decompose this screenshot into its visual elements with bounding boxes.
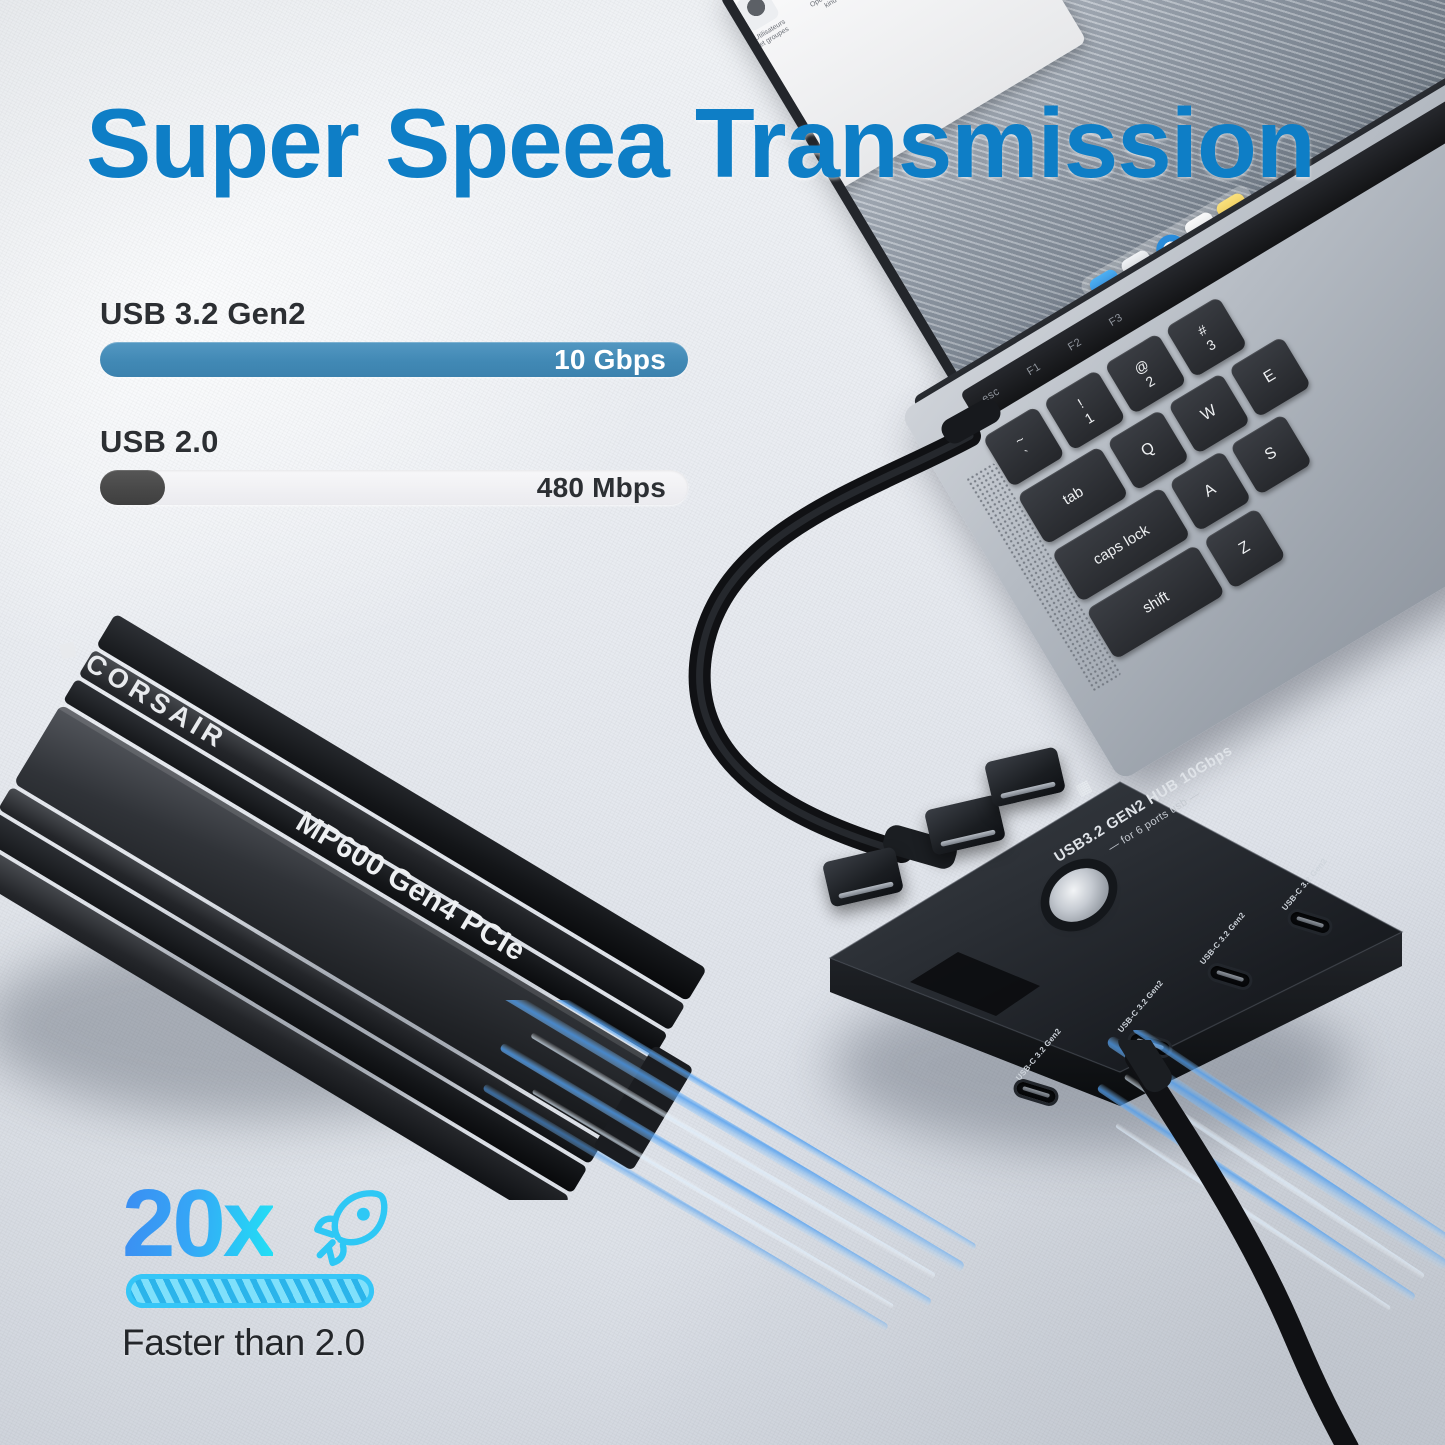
- progress-pill-stripes: [131, 1279, 369, 1303]
- multiplier-value: 20x: [122, 1176, 273, 1272]
- speed-bar-fill: [100, 470, 165, 505]
- pref-item: Utilisateurs et groupes: [732, 0, 794, 52]
- pref-label: Operate the kind: [808, 0, 851, 18]
- speed-bar-track: 480 Mbps: [100, 470, 688, 505]
- pref-item: Operate the kind: [788, 0, 850, 18]
- progress-pill: [126, 1274, 374, 1308]
- speed-row-usb32: USB 3.2 Gen2 10 Gbps: [100, 296, 688, 377]
- speed-bar-track: 10 Gbps: [100, 342, 688, 377]
- preferences-row: Utilisateurs et groupes Operate the kind…: [732, 0, 907, 52]
- hub-output-cable: [1090, 1040, 1445, 1445]
- speed-row-usb20: USB 2.0 480 Mbps: [100, 424, 688, 505]
- speed-multiplier-badge: 20x Faster than 2.0: [122, 1182, 452, 1274]
- key-bottom: 3: [1203, 335, 1218, 353]
- page-title: Super Speea Transmission: [86, 92, 1426, 195]
- product-marketing-image: Utilisateurs et groupes Operate the kind…: [0, 0, 1445, 1445]
- touchbar-key-f2[interactable]: F2: [1066, 336, 1084, 353]
- key-bottom: 2: [1142, 372, 1157, 390]
- touchbar-key-f1[interactable]: F1: [1025, 361, 1043, 378]
- touchbar-key-f3[interactable]: F3: [1107, 311, 1125, 328]
- speed-label: USB 3.2 Gen2: [100, 296, 688, 332]
- rocket-icon: [307, 1186, 389, 1268]
- speed-bar-value: 480 Mbps: [537, 470, 666, 505]
- speed-bar-value: 10 Gbps: [554, 342, 666, 377]
- badge-top-row: 20x: [122, 1182, 452, 1274]
- badge-caption: Faster than 2.0: [122, 1322, 365, 1364]
- nvme-ssd: ◆CORSAIR MP600 Gen4 PCIe: [0, 600, 720, 1200]
- speed-label: USB 2.0: [100, 424, 688, 460]
